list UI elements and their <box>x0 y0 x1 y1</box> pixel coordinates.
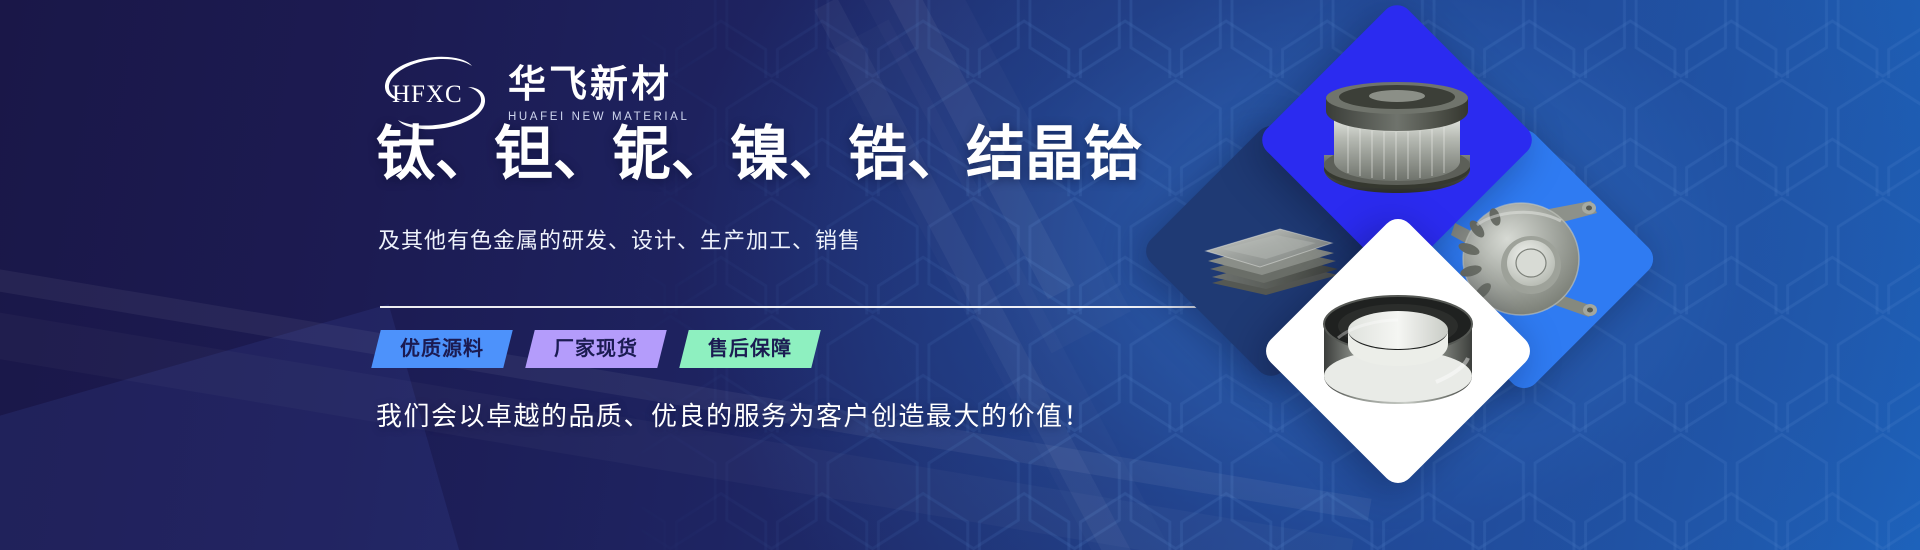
brand-logo[interactable]: HFXC 华飞新材 HUAFEI NEW MATERIAL <box>376 56 689 130</box>
product-gallery <box>1060 0 1920 550</box>
brand-wordmark: 华飞新材 HUAFEI NEW MATERIAL <box>508 63 689 123</box>
feature-badge-after-sales[interactable]: 售后保障 <box>679 330 820 368</box>
badge-label: 优质源料 <box>400 339 484 359</box>
hero-banner: HFXC 华飞新材 HUAFEI NEW MATERIAL 钛、钽、铌、镍、锆、… <box>0 0 1920 550</box>
feature-badge-list: 优质源料 厂家现货 售后保障 <box>376 330 838 368</box>
feature-badge-quality-source[interactable]: 优质源料 <box>371 330 512 368</box>
brand-name-cn: 华飞新材 <box>508 65 689 105</box>
feature-badge-factory-stock[interactable]: 厂家现货 <box>525 330 666 368</box>
badge-label: 厂家现货 <box>554 339 638 359</box>
logo-monogram: HFXC <box>392 82 463 107</box>
swoosh-icon: HFXC <box>376 56 494 130</box>
badge-label: 售后保障 <box>708 339 792 359</box>
hero-tagline: 我们会以卓越的品质、优良的服务为客户创造最大的价值！ <box>376 403 1091 429</box>
hero-subheadline: 及其他有色金属的研发、设计、生产加工、销售 <box>378 230 861 252</box>
hero-headline: 钛、钽、铌、镍、锆、结晶铪 <box>376 125 1143 184</box>
hero-content: HFXC 华飞新材 HUAFEI NEW MATERIAL 钛、钽、铌、镍、锆、… <box>376 0 1176 550</box>
